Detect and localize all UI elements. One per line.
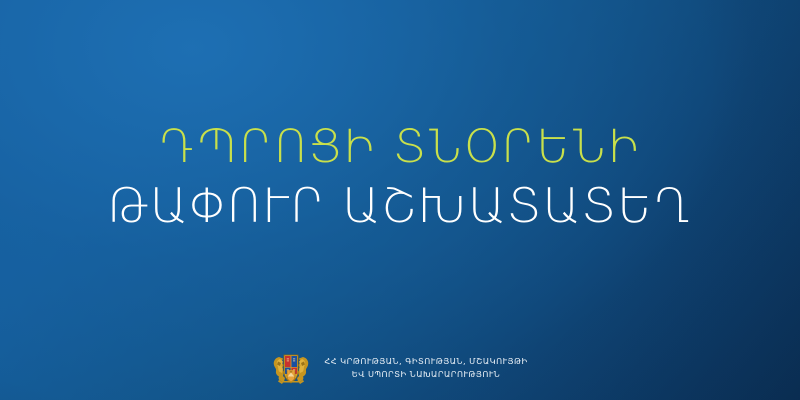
- headline-line-2: ԹԱՓՈՒՐ ԱՇԽԱՏԱՏԵՂ: [0, 183, 800, 230]
- announcement-banner: ԴՊՐՈՑԻ ՏՆՕՐԵՆԻ ԹԱՓՈՒՐ ԱՇԽԱՏԱՏԵՂ: [0, 0, 800, 400]
- headline-block: ԴՊՐՈՑԻ ՏՆՕՐԵՆԻ ԹԱՓՈՒՐ ԱՇԽԱՏԱՏԵՂ: [0, 124, 800, 230]
- ministry-line-2: ԵՎ ՍՊՈՐՏԻ ՆԱԽԱՐԱՐՈՒԹՅՈՒՆ: [324, 368, 527, 381]
- ministry-line-1: ՀՀ ԿՐԹՈՒԹՅԱՆ, ԳԻՏՈՒԹՅԱՆ, ՄՇԱԿՈՒՅԹԻ: [324, 355, 527, 368]
- ministry-name: ՀՀ ԿՐԹՈՒԹՅԱՆ, ԳԻՏՈՒԹՅԱՆ, ՄՇԱԿՈՒՅԹԻ ԵՎ ՍՊ…: [324, 355, 527, 380]
- headline-line-1: ԴՊՐՈՑԻ ՏՆՕՐԵՆԻ: [0, 124, 800, 169]
- armenia-coat-of-arms-icon: [272, 348, 310, 388]
- footer-branding: ՀՀ ԿՐԹՈՒԹՅԱՆ, ԳԻՏՈՒԹՅԱՆ, ՄՇԱԿՈՒՅԹԻ ԵՎ ՍՊ…: [0, 348, 800, 388]
